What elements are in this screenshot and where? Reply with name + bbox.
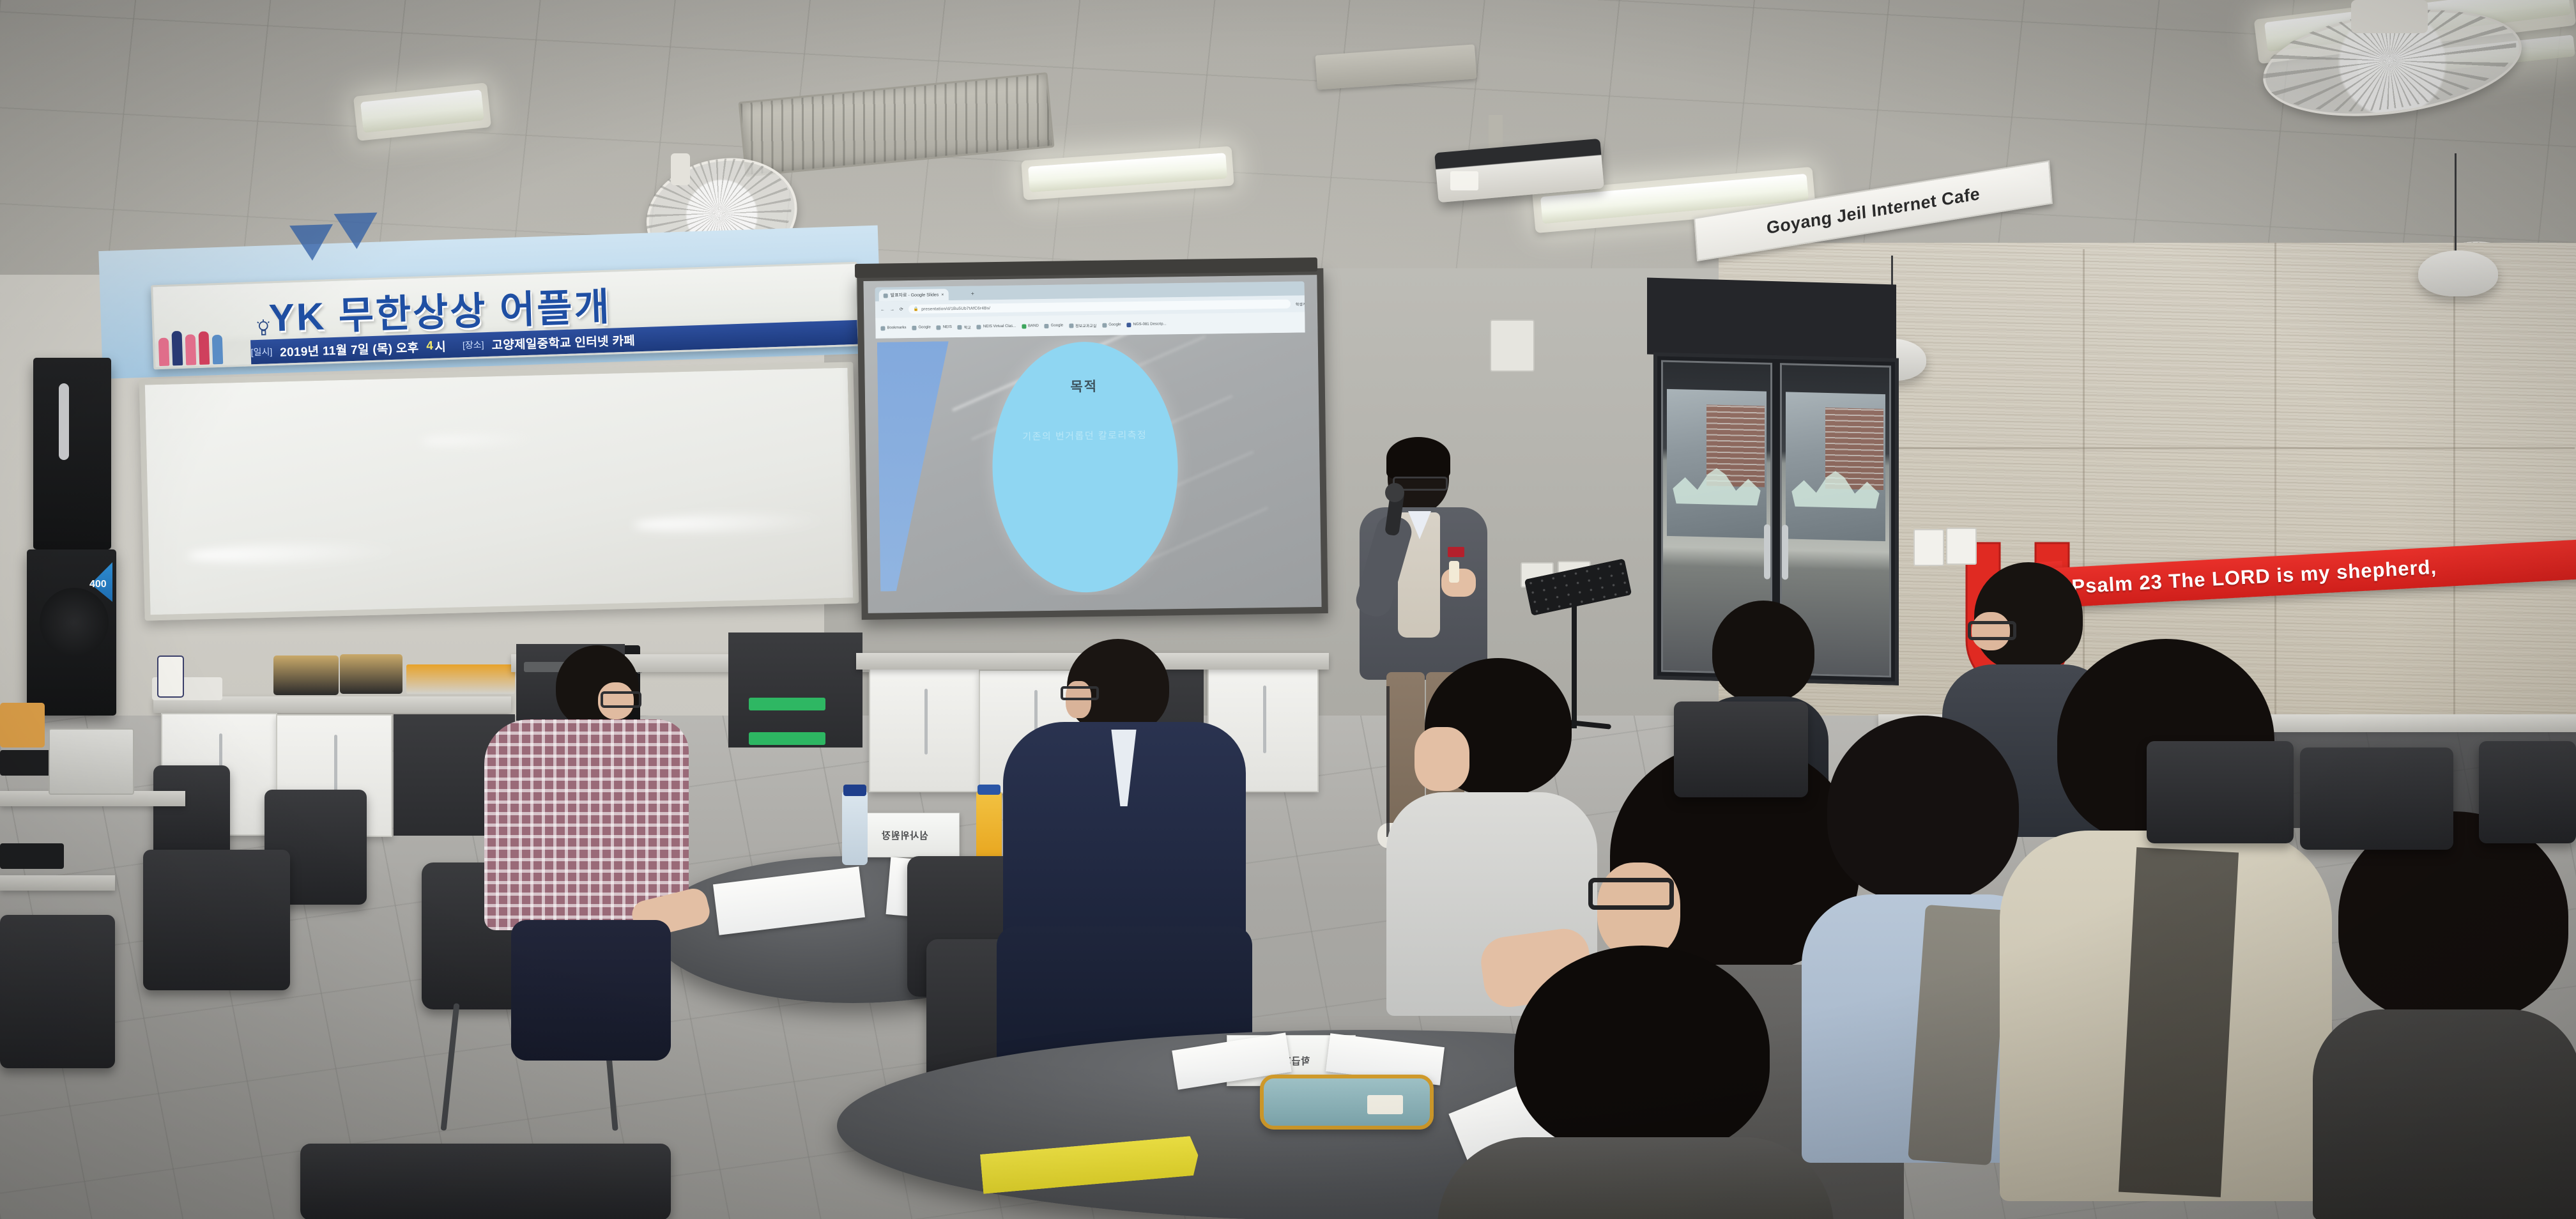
bookmark-item[interactable]: NEIS Virtual Clas... [977,324,1016,329]
storage-tray [49,728,134,795]
projection-screen: 발표자료 - Google Slides × + ← → ⟳ 🔒 present… [857,268,1328,620]
speaker-cone [40,588,109,657]
marker-cup [157,655,184,698]
banner-place-text: 고양제일중학교 인터넷 카페 [484,331,635,353]
new-tab-icon[interactable]: + [971,291,974,297]
pencil-case[interactable] [1260,1075,1434,1130]
bookmark-icon [1069,323,1073,328]
equipment-indicator-2 [749,732,825,745]
slide-content: 목적 기존의 번거롭던 칼로리측정 [876,333,1309,597]
microphone-head [1385,483,1404,502]
whiteboard [139,362,859,620]
projector-lens [1450,171,1478,190]
bookmark-label: 학교 [964,324,971,330]
robot-kit-1 [273,655,339,695]
browser-window: 발표자료 - Google Slides × + ← → ⟳ 🔒 present… [875,281,1305,338]
slide-wedge-shape [877,341,952,592]
chair-left-1[interactable] [153,765,230,861]
bookmark-icon [977,325,981,329]
banner-date-tag: [일시] [250,345,272,358]
lock-icon: 🔒 [914,307,919,312]
judge2-glasses [1061,686,1099,700]
address-bar[interactable]: 🔒 presentation/d/1Bu5Ub7tAfC6r4Bs/ [908,300,1291,314]
banner-date-accent: 4 [418,339,434,354]
door-header-panel [1647,278,1896,362]
profile-label[interactable]: 학생계정 [1296,301,1305,307]
slide-ellipse-shape: 목적 기존의 번거롭던 칼로리측정 [991,341,1179,594]
chair-left-4[interactable] [0,915,115,1068]
bookmark-icon [958,325,962,329]
tab-close-icon[interactable]: × [941,293,944,297]
bookmark-label: Google [918,326,930,330]
wall-fan-1-neck [671,153,690,185]
door-handle-right[interactable] [1782,525,1788,579]
browser-tab[interactable]: 발표자료 - Google Slides × [879,289,949,302]
bookmark-icon [880,326,885,330]
audience-back-head [1712,601,1814,703]
banner-place-tag: [장소] [446,338,484,352]
bookmark-icon [912,325,916,330]
bookmark-item[interactable]: Google [1102,323,1121,327]
bookmark-icon [1102,323,1107,327]
bookmark-label: Google [1051,324,1063,328]
pa-speaker-top [33,358,111,549]
bookmark-item[interactable]: NGS-081 Descrip... [1127,322,1167,327]
address-bar-url: presentation/d/1Bu5Ub7tAfC6r4Bs/ [921,306,990,312]
banner-date-suffix: 시 [433,337,447,355]
bookmark-item[interactable]: 학교 [958,324,971,330]
slide-body-text: 기존의 번거롭던 칼로리측정 [992,427,1177,443]
presenter-held-prop [1449,561,1459,583]
audience-fc-glasses [1588,878,1674,910]
bookmark-item[interactable]: BAND [1022,324,1039,328]
chair-right-1[interactable] [1674,701,1808,797]
slide-title: 목적 [992,375,1177,397]
microphone-on-stand [59,383,69,460]
supply-box [0,703,45,747]
judge-plaid-shirt [473,645,703,1080]
classroom-scene: YK 무한상상 어플개 [일시] 2019년 11월 7일 (목) 오후 4 시… [0,0,2576,1219]
audience-rb-glasses [1968,621,2016,640]
chair-right-2[interactable] [2147,741,2294,843]
bookmark-item[interactable]: Google [1045,323,1063,328]
judge1-glasses [601,691,641,708]
audience-fr-strap [1908,905,2009,1165]
wall-fan-2-mount [2351,0,2428,33]
audience-fr-head [1827,716,2019,901]
bookmark-label: NEIS [943,325,952,329]
audience-fc-face [1597,862,1680,958]
door-handle-left[interactable] [1764,525,1770,579]
judge-placard-label: 심사위원장 [881,829,928,842]
wall-switch-2[interactable] [1946,528,1977,565]
robot-kit-2 [340,654,402,694]
screen-surface: 발표자료 - Google Slides × + ← → ⟳ 🔒 present… [863,275,1321,613]
door-glass-left [1667,389,1767,539]
bookmark-item[interactable]: 정보교과교실 [1069,322,1096,328]
bookmark-label: NGS-081 Descrip... [1133,322,1167,326]
audience-mid-face [1414,727,1469,791]
bookmark-item[interactable]: Bookmarks [880,326,906,331]
pendant-light-2 [2418,250,2498,296]
audience-rv-strap [2119,847,2239,1197]
pencil-case-tag [1367,1095,1403,1114]
presenter-school-badge [1448,547,1464,557]
student-desk-left-2 [0,875,115,891]
chair-right-4[interactable] [2479,741,2576,843]
audience-student-foreground [1437,946,1834,1219]
bookmark-icon [1127,323,1131,327]
reload-icon[interactable]: ⟳ [900,307,903,312]
audience-student-right-vest [2000,639,2332,1201]
back-icon[interactable]: ← [880,307,885,312]
chair-foreground-left[interactable] [300,1144,671,1219]
speaker-model-label: 400 [89,579,107,590]
chair-right-3[interactable] [2300,747,2453,850]
audience-fg-head [1514,946,1770,1156]
pendant-cord-2 [2455,153,2457,262]
audience-farr-body [2313,1009,2576,1219]
audience-student-far-right [2313,811,2576,1219]
bookmark-label: 정보교과교실 [1075,322,1096,328]
bottle-cap-1 [843,785,866,796]
forward-icon[interactable]: → [890,307,894,312]
bookmark-label: Google [1108,323,1121,326]
equipment-cabinet [728,632,862,747]
banner-illustration [158,323,255,366]
bookmark-item[interactable]: NEIS [937,325,952,330]
bookmark-label: NEIS Virtual Clas... [983,325,1016,329]
cabinet-center-1[interactable] [869,668,980,792]
browser-tab-title: 발표자료 - Google Slides [891,291,939,298]
keyboard-left-2[interactable] [0,843,64,869]
bookmark-icon [937,325,941,330]
bookmark-label: Bookmarks [887,326,906,330]
water-bottle-1 [842,791,868,865]
judge-navy-suit [997,639,1252,1086]
tab-favicon [884,293,888,298]
audience-fg-shoulders [1437,1137,1834,1219]
wall-speaker [1490,319,1535,372]
projector-mount [1489,115,1503,148]
bookmark-icon [1022,324,1026,328]
bookmark-item[interactable]: Google [912,325,930,330]
wall-switch-1[interactable] [1913,529,1944,566]
door-glass-right [1786,392,1885,541]
bookmark-label: BAND [1028,324,1039,328]
banner-date-text: 2019년 11월 7일 (목) 오후 [272,338,419,360]
equipment-indicator-1 [749,698,825,710]
bookmark-icon [1045,323,1049,328]
chair-left-3[interactable] [143,850,290,990]
presenter-hair [1386,437,1450,479]
judge1-lower-body [511,920,671,1061]
